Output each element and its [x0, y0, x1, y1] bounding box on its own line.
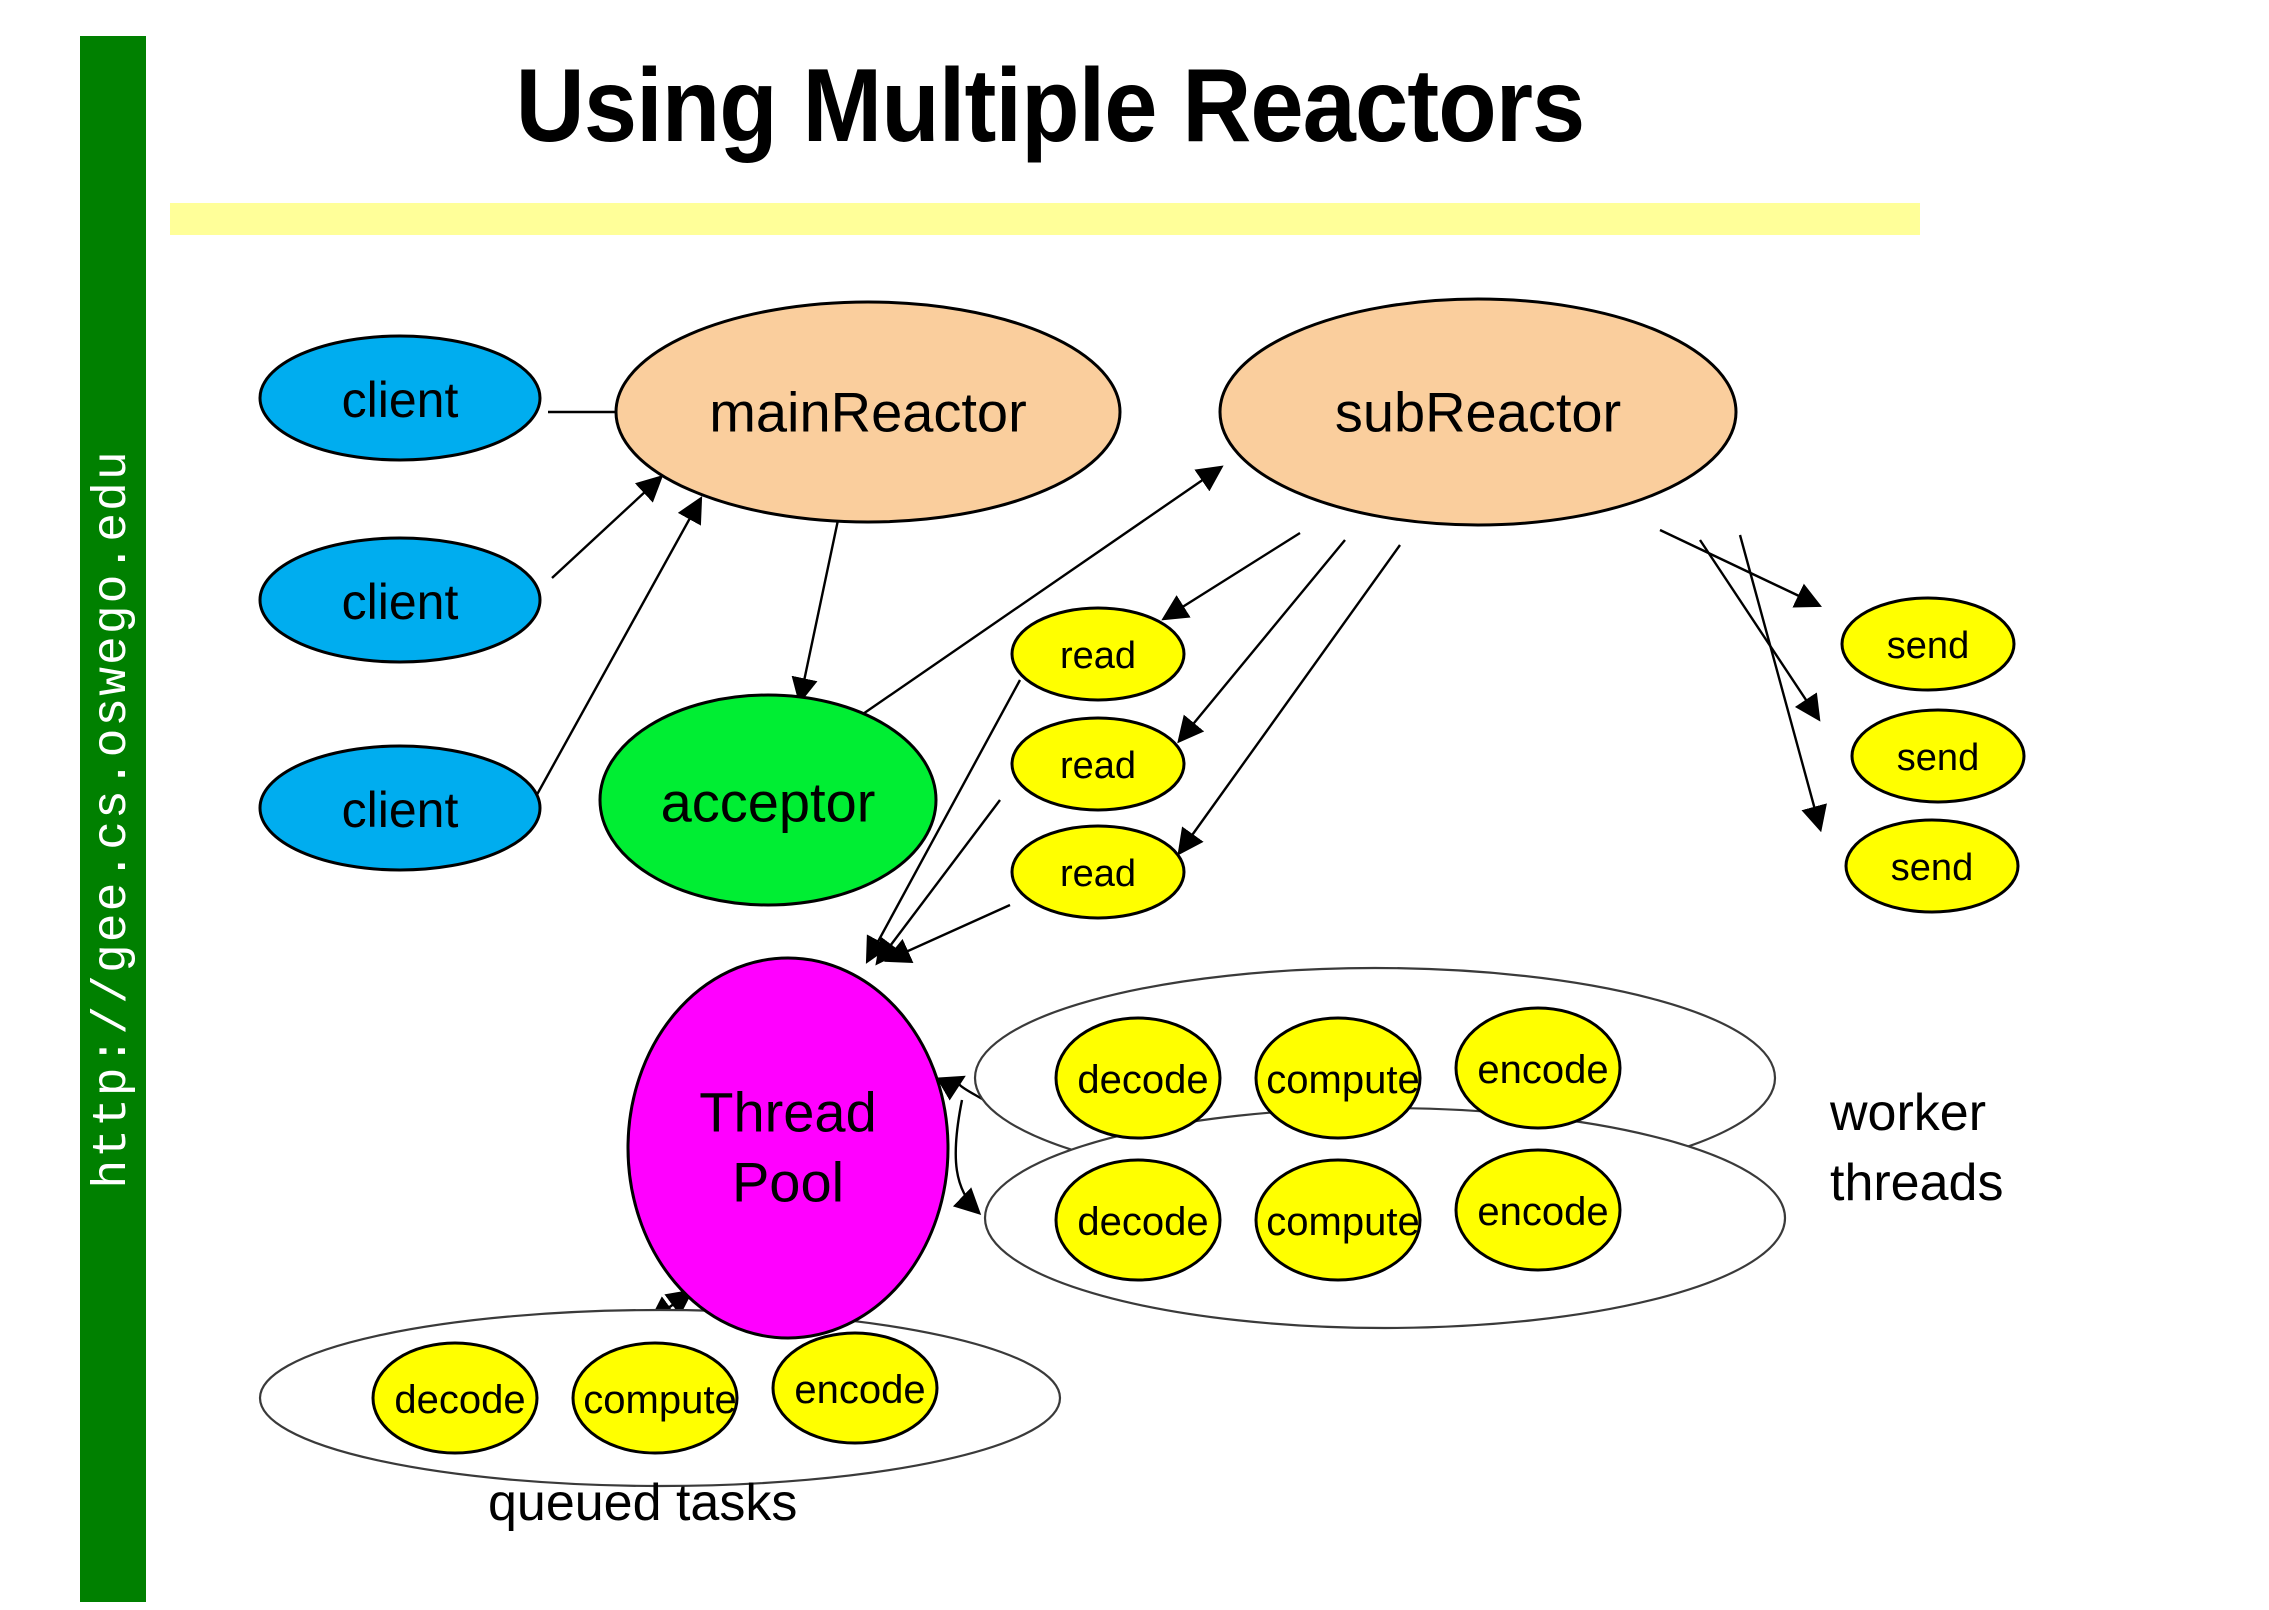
node-read-1[interactable]: read: [1012, 608, 1184, 700]
node-send-3[interactable]: send: [1846, 820, 2018, 912]
edge-subreactor-to-send1: [1660, 530, 1818, 605]
edge-subreactor-to-send2: [1700, 540, 1818, 718]
read-3-label: read: [1060, 853, 1136, 895]
queued-task-decode[interactable]: decode: [373, 1343, 537, 1453]
read-1-label: read: [1060, 635, 1136, 677]
queued-task-encode[interactable]: encode: [773, 1333, 937, 1443]
send-1-label: send: [1887, 625, 1969, 667]
node-client-3[interactable]: client: [260, 746, 540, 870]
slide-canvas: http://gee.cs.oswego.edu Using Multiple …: [0, 0, 2269, 1610]
edge-client2-to-mainreactor: [552, 478, 660, 578]
worker-row-1-encode-label: encode: [1477, 1048, 1608, 1092]
node-sub-reactor[interactable]: subReactor: [1220, 299, 1736, 525]
queued-task-compute[interactable]: compute: [573, 1343, 737, 1453]
node-read-2[interactable]: read: [1012, 718, 1184, 810]
edge-subreactor-to-read1: [1165, 533, 1300, 618]
worker-threads-group: [975, 968, 1785, 1328]
worker-threads-caption-line2: threads: [1830, 1154, 2003, 1212]
thread-pool-label-line1: Thread: [699, 1081, 876, 1144]
read-2-label: read: [1060, 745, 1136, 787]
worker-row-2-task-encode[interactable]: encode: [1456, 1150, 1620, 1270]
worker-row-1-task-compute[interactable]: compute: [1256, 1018, 1420, 1138]
worker-row-2-task-compute[interactable]: compute: [1256, 1160, 1420, 1280]
worker-row-1-compute-label: compute: [1266, 1058, 1419, 1102]
queued-compute-label: compute: [583, 1378, 736, 1422]
edge-mainreactor-to-acceptor: [800, 520, 838, 700]
client-1-label: client: [342, 372, 459, 428]
send-2-label: send: [1897, 737, 1979, 779]
worker-row-2-decode-label: decode: [1077, 1200, 1208, 1244]
worker-threads-caption-line1: worker: [1829, 1084, 1986, 1142]
node-thread-pool[interactable]: Thread Pool: [628, 958, 948, 1338]
node-acceptor[interactable]: acceptor: [600, 695, 936, 905]
worker-row-2-encode-label: encode: [1477, 1190, 1608, 1234]
client-3-label: client: [342, 782, 459, 838]
main-reactor-label: mainReactor: [709, 381, 1026, 444]
queued-encode-label: encode: [794, 1368, 925, 1412]
worker-row-1-task-decode[interactable]: decode: [1056, 1018, 1220, 1138]
reactor-diagram: client client client mainReactor subReac…: [0, 0, 2269, 1610]
worker-row-2-tasks: decode compute encode: [1056, 1150, 1620, 1280]
node-client-1[interactable]: client: [260, 336, 540, 460]
worker-row-2-compute-label: compute: [1266, 1200, 1419, 1244]
thread-pool-ellipse: [628, 958, 948, 1338]
worker-row-2-task-decode[interactable]: decode: [1056, 1160, 1220, 1280]
node-main-reactor[interactable]: mainReactor: [616, 302, 1120, 522]
edge-threadpool-to-worker-row2: [956, 1100, 978, 1212]
sub-reactor-label: subReactor: [1335, 381, 1621, 444]
acceptor-label: acceptor: [661, 771, 876, 834]
thread-pool-label-line2: Pool: [732, 1151, 844, 1214]
edge-subreactor-to-read2: [1180, 540, 1345, 740]
queued-decode-label: decode: [394, 1378, 525, 1422]
worker-row-1-decode-label: decode: [1077, 1058, 1208, 1102]
edge-subreactor-to-send3: [1740, 535, 1820, 828]
node-read-3[interactable]: read: [1012, 826, 1184, 918]
queued-tasks-group: decode compute encode: [373, 1333, 937, 1453]
client-2-label: client: [342, 574, 459, 630]
edge-read3-to-threadpool: [888, 905, 1010, 960]
queued-tasks-caption: queued tasks: [488, 1474, 797, 1532]
node-send-2[interactable]: send: [1852, 710, 2024, 802]
node-client-2[interactable]: client: [260, 538, 540, 662]
node-send-1[interactable]: send: [1842, 598, 2014, 690]
worker-row-1-tasks: decode compute encode: [1056, 1008, 1620, 1138]
worker-row-1-task-encode[interactable]: encode: [1456, 1008, 1620, 1128]
send-3-label: send: [1891, 847, 1973, 889]
